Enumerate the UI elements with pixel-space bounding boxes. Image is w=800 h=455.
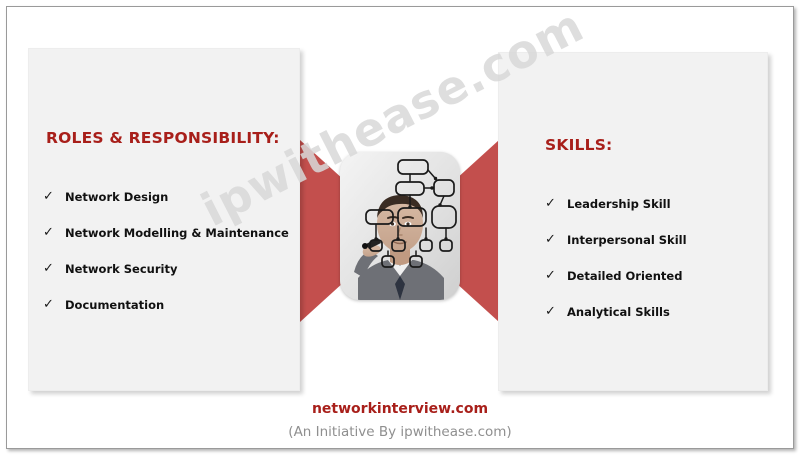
list-item: ✓ Network Modelling & Maintenance [41, 215, 297, 251]
check-icon: ✓ [43, 215, 59, 251]
list-item: ✓ Documentation [41, 287, 297, 323]
list-item-label: Interpersonal Skill [567, 233, 687, 247]
roles-panel-title: ROLES & RESPONSIBILITY: [46, 129, 280, 147]
list-item: ✓ Leadership Skill [543, 186, 763, 222]
roles-panel: ROLES & RESPONSIBILITY: ✓ Network Design… [28, 48, 300, 391]
slide-canvas: ipwithease.com ROLES & RESPONSIBILITY: ✓… [0, 0, 800, 455]
skills-list: ✓ Leadership Skill ✓ Interpersonal Skill… [543, 186, 763, 330]
skills-panel: SKILLS: ✓ Leadership Skill ✓ Interperson… [498, 52, 768, 391]
list-item: ✓ Network Security [41, 251, 297, 287]
list-item-label: Network Security [65, 262, 177, 276]
check-icon: ✓ [545, 294, 561, 330]
check-icon: ✓ [545, 222, 561, 258]
list-item-label: Analytical Skills [567, 305, 670, 319]
check-icon: ✓ [43, 251, 59, 287]
list-item-label: Network Design [65, 190, 168, 204]
footer-subtitle: (An Initiative By ipwithease.com) [0, 424, 800, 440]
man-drawing-flowchart-photo [340, 152, 460, 300]
check-icon: ✓ [545, 186, 561, 222]
list-item: ✓ Interpersonal Skill [543, 222, 763, 258]
list-item-label: Detailed Oriented [567, 269, 682, 283]
list-item: ✓ Analytical Skills [543, 294, 763, 330]
list-item: ✓ Detailed Oriented [543, 258, 763, 294]
list-item-label: Leadership Skill [567, 197, 671, 211]
list-item-label: Network Modelling & Maintenance [65, 226, 289, 240]
check-icon: ✓ [43, 287, 59, 323]
skills-panel-title: SKILLS: [545, 136, 612, 154]
check-icon: ✓ [545, 258, 561, 294]
red-arrow-right-icon [455, 140, 499, 322]
list-item-label: Documentation [65, 298, 164, 312]
footer-brand: networkinterview.com [0, 401, 800, 417]
check-icon: ✓ [43, 179, 59, 215]
